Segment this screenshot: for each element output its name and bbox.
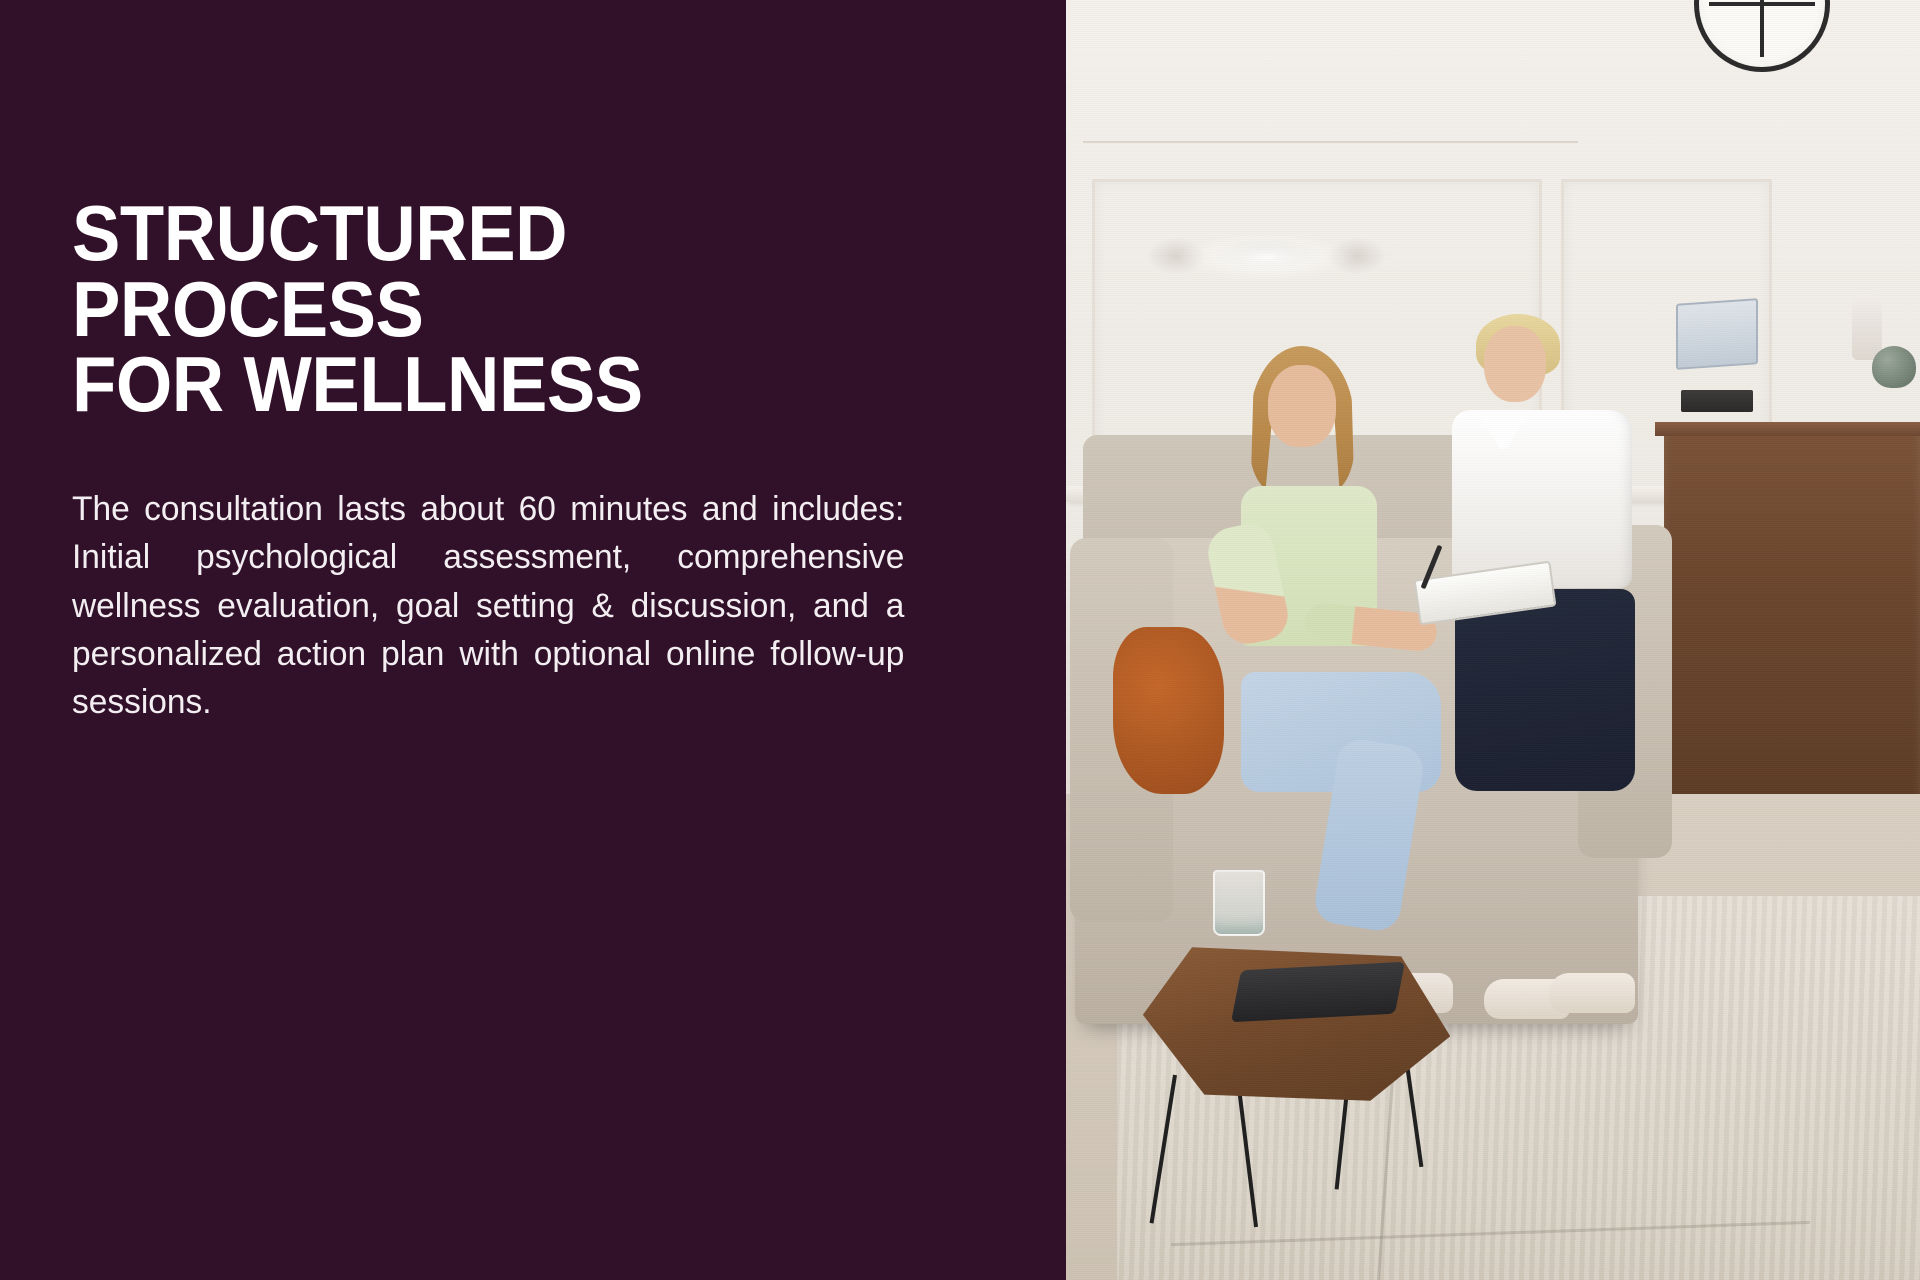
therapist-shoe-right (1549, 973, 1635, 1013)
plaster-ornament (1134, 230, 1399, 282)
therapist-head (1484, 326, 1546, 402)
consultation-photo (1066, 0, 1920, 1280)
wooden-credenza (1664, 422, 1920, 806)
record-player-base (1681, 390, 1753, 412)
round-vase (1872, 346, 1916, 388)
left-text-panel: STRUCTURED PROCESS FOR WELLNESS The cons… (0, 0, 1066, 1280)
client-head (1268, 365, 1336, 447)
therapist-trousers (1455, 589, 1635, 791)
orange-cushion (1113, 627, 1224, 793)
rug-pattern-line (1171, 1221, 1810, 1246)
photo-panel (1066, 0, 1920, 1280)
page-title: STRUCTURED PROCESS FOR WELLNESS (72, 196, 858, 423)
slide-root: STRUCTURED PROCESS FOR WELLNESS The cons… (0, 0, 1920, 1280)
wall-moulding (1083, 141, 1578, 143)
tall-vase (1852, 294, 1882, 360)
body-paragraph: The consultation lasts about 60 minutes … (72, 423, 904, 775)
credenza-top (1655, 422, 1920, 436)
laptop-icon (1231, 962, 1405, 1022)
water-glass (1213, 870, 1265, 936)
record-player (1676, 298, 1758, 370)
text-block: STRUCTURED PROCESS FOR WELLNESS The cons… (72, 196, 917, 775)
